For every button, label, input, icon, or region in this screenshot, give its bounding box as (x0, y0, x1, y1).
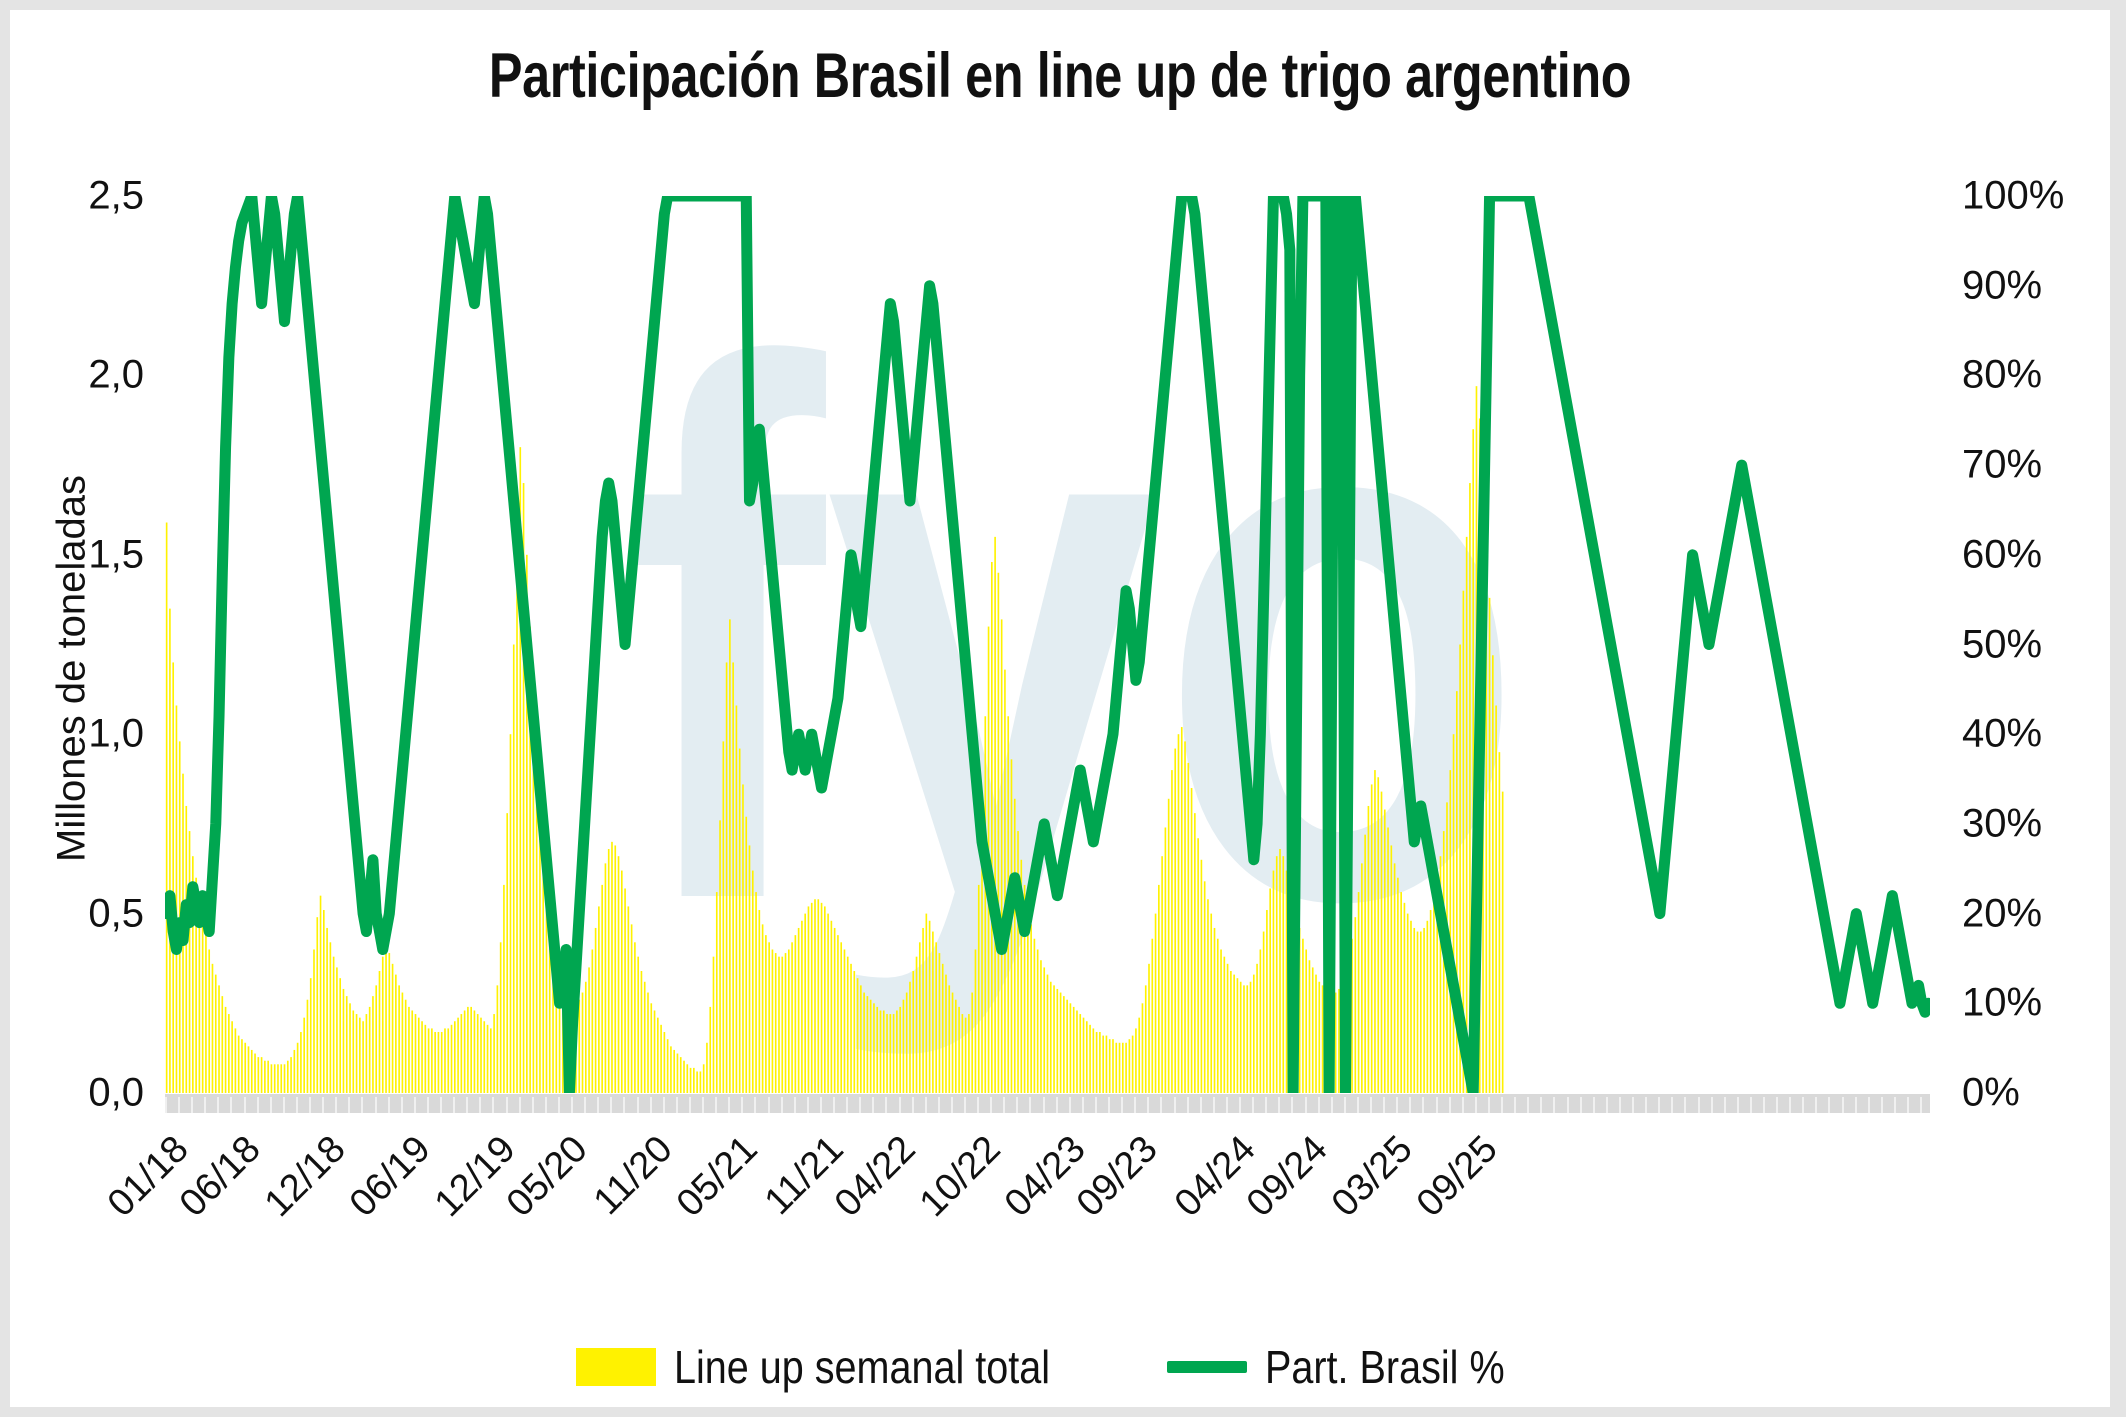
legend-label-line-up-semanal-total: Line up semanal total (674, 1340, 1050, 1394)
chart-legend: Line up semanal total Part. Brasil % (10, 1340, 2110, 1394)
chart-page: Participación Brasil en line up de trigo… (10, 10, 2110, 1407)
legend-swatch-bar-icon (576, 1348, 656, 1386)
legend-swatch-line-icon (1167, 1361, 1247, 1373)
legend-label-part-brasil: Part. Brasil % (1265, 1340, 1505, 1394)
legend-item-part-brasil[interactable]: Part. Brasil % (1167, 1340, 1544, 1394)
x-axis-labels: 01/1806/1812/1806/1912/1905/2011/2005/21… (10, 10, 2110, 1407)
legend-item-line-up-semanal-total[interactable]: Line up semanal total (576, 1340, 1111, 1394)
